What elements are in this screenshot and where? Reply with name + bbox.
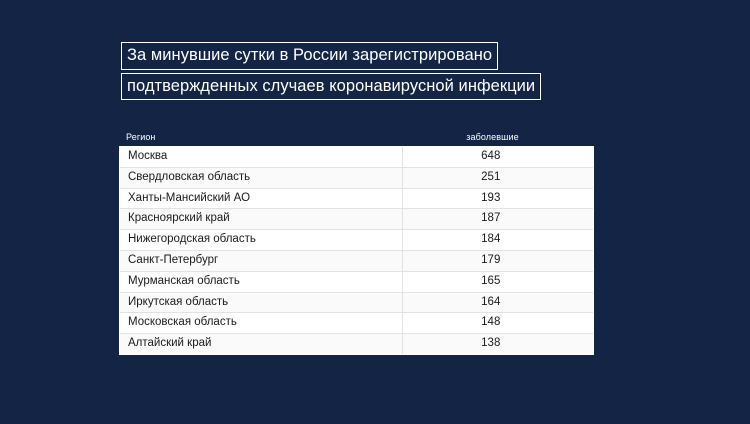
cell-region: Санкт-Петербург bbox=[120, 250, 402, 271]
cell-region: Красноярский край bbox=[120, 209, 402, 230]
column-header-count: заболевшие bbox=[402, 133, 593, 147]
cell-region: Иркутская область bbox=[120, 292, 402, 313]
cell-region: Свердловская область bbox=[120, 167, 402, 188]
cell-count: 251 bbox=[402, 167, 593, 188]
table-row: Ханты-Мансийский АО193 bbox=[120, 188, 593, 209]
cell-region: Ханты-Мансийский АО bbox=[120, 188, 402, 209]
cell-count: 184 bbox=[402, 230, 593, 251]
table-row: Мурманская область165 bbox=[120, 271, 593, 292]
cell-count: 193 bbox=[402, 188, 593, 209]
cell-region: Мурманская область bbox=[120, 271, 402, 292]
cases-table: Регион заболевшие Москва648Свердловская … bbox=[120, 133, 593, 354]
cell-count: 148 bbox=[402, 313, 593, 334]
table-header: Регион заболевшие bbox=[120, 133, 593, 147]
table-header-row: Регион заболевшие bbox=[120, 133, 593, 147]
cell-count: 187 bbox=[402, 209, 593, 230]
page-title-line-1: За минувшие сутки в России зарегистриров… bbox=[121, 42, 498, 70]
cell-count: 648 bbox=[402, 147, 593, 167]
table-row: Алтайский край138 bbox=[120, 334, 593, 354]
table-body: Москва648Свердловская область251Ханты-Ма… bbox=[120, 147, 593, 354]
table-row: Свердловская область251 bbox=[120, 167, 593, 188]
cell-count: 164 bbox=[402, 292, 593, 313]
cell-count: 179 bbox=[402, 250, 593, 271]
table-row: Московская область148 bbox=[120, 313, 593, 334]
table-row: Санкт-Петербург179 bbox=[120, 250, 593, 271]
page-title-line-2: подтвержденных случаев коронавирусной ин… bbox=[121, 73, 541, 101]
cases-table-container: Регион заболевшие Москва648Свердловская … bbox=[120, 133, 593, 354]
cell-region: Нижегородская область bbox=[120, 230, 402, 251]
page-title: За минувшие сутки в России зарегистриров… bbox=[121, 42, 541, 100]
cell-count: 165 bbox=[402, 271, 593, 292]
table-row: Иркутская область164 bbox=[120, 292, 593, 313]
cell-region: Московская область bbox=[120, 313, 402, 334]
cell-region: Алтайский край bbox=[120, 334, 402, 354]
table-row: Красноярский край187 bbox=[120, 209, 593, 230]
column-header-region: Регион bbox=[120, 133, 402, 147]
cell-count: 138 bbox=[402, 334, 593, 354]
table-row: Нижегородская область184 bbox=[120, 230, 593, 251]
cell-region: Москва bbox=[120, 147, 402, 167]
table-row: Москва648 bbox=[120, 147, 593, 167]
